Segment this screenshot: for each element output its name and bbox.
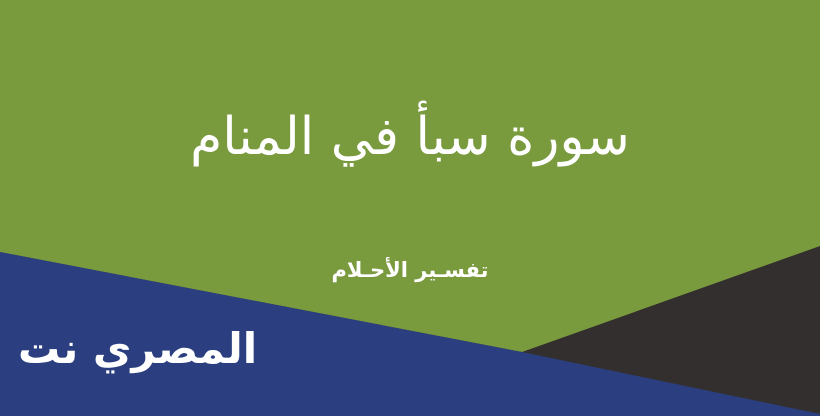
image-card: سورة سبأ في المنام تفسـير الأحـلام المصر…	[0, 0, 820, 416]
background-shapes	[0, 0, 820, 416]
